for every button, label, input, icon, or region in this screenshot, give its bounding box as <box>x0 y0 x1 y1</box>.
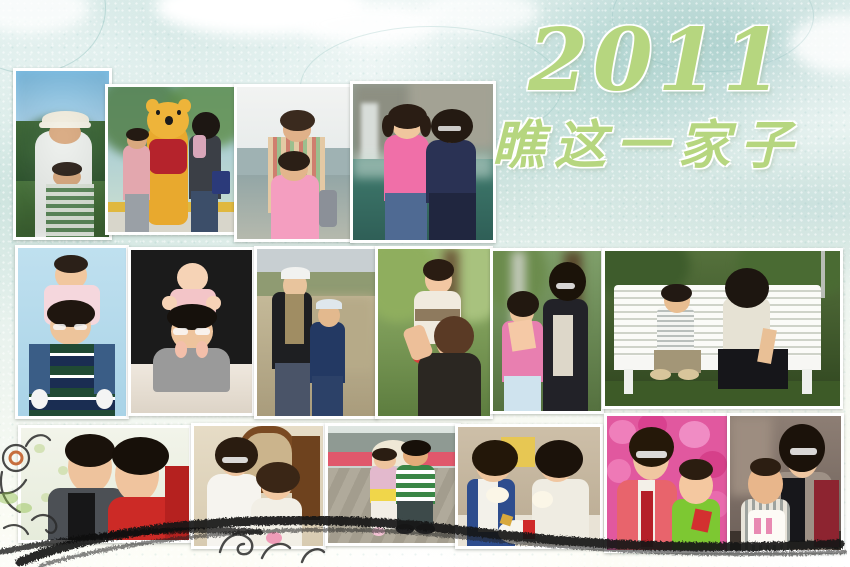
photo-p14 <box>455 424 603 549</box>
photo-p10 <box>602 248 843 409</box>
photo-p12 <box>191 423 326 549</box>
photo-p12-content <box>194 426 323 546</box>
photo-p11 <box>18 425 192 543</box>
photo-p14-content <box>458 427 600 546</box>
photo-p10-content <box>605 251 840 406</box>
photo-p3 <box>234 84 354 242</box>
photo-p4-content <box>353 84 493 240</box>
photo-p2 <box>105 84 238 235</box>
photo-p5 <box>15 245 129 419</box>
photo-p8 <box>375 246 493 419</box>
photo-p11-content <box>21 428 189 540</box>
photo-p13-content <box>328 426 458 543</box>
photo-p7 <box>254 246 378 419</box>
poster-year: 2011 <box>528 18 787 104</box>
photo-p6-content <box>131 250 252 413</box>
family-photo-collage-poster: 2011 瞧这一家子 <box>0 0 850 567</box>
photo-p8-content <box>378 249 490 416</box>
photo-p1-content <box>16 71 109 237</box>
photo-p4 <box>350 81 496 243</box>
photo-p1 <box>13 68 112 240</box>
photo-p5-content <box>18 248 126 416</box>
poster-tagline: 瞧这一家子 <box>492 120 802 172</box>
photo-p7-content <box>257 249 375 416</box>
photo-p9 <box>490 248 604 414</box>
photo-p3-content <box>237 87 351 239</box>
photo-p16-content <box>730 416 841 550</box>
poster-title-group: 2011 <box>528 18 787 104</box>
photo-p16 <box>727 413 844 553</box>
photo-p15 <box>604 413 730 553</box>
photo-p15-content <box>607 416 727 550</box>
photo-p2-content <box>108 87 235 232</box>
photo-p6 <box>128 247 255 416</box>
photo-p13 <box>325 423 461 546</box>
photo-p9-content <box>493 251 601 411</box>
poster-tagline-group: 瞧这一家子 <box>492 120 802 172</box>
